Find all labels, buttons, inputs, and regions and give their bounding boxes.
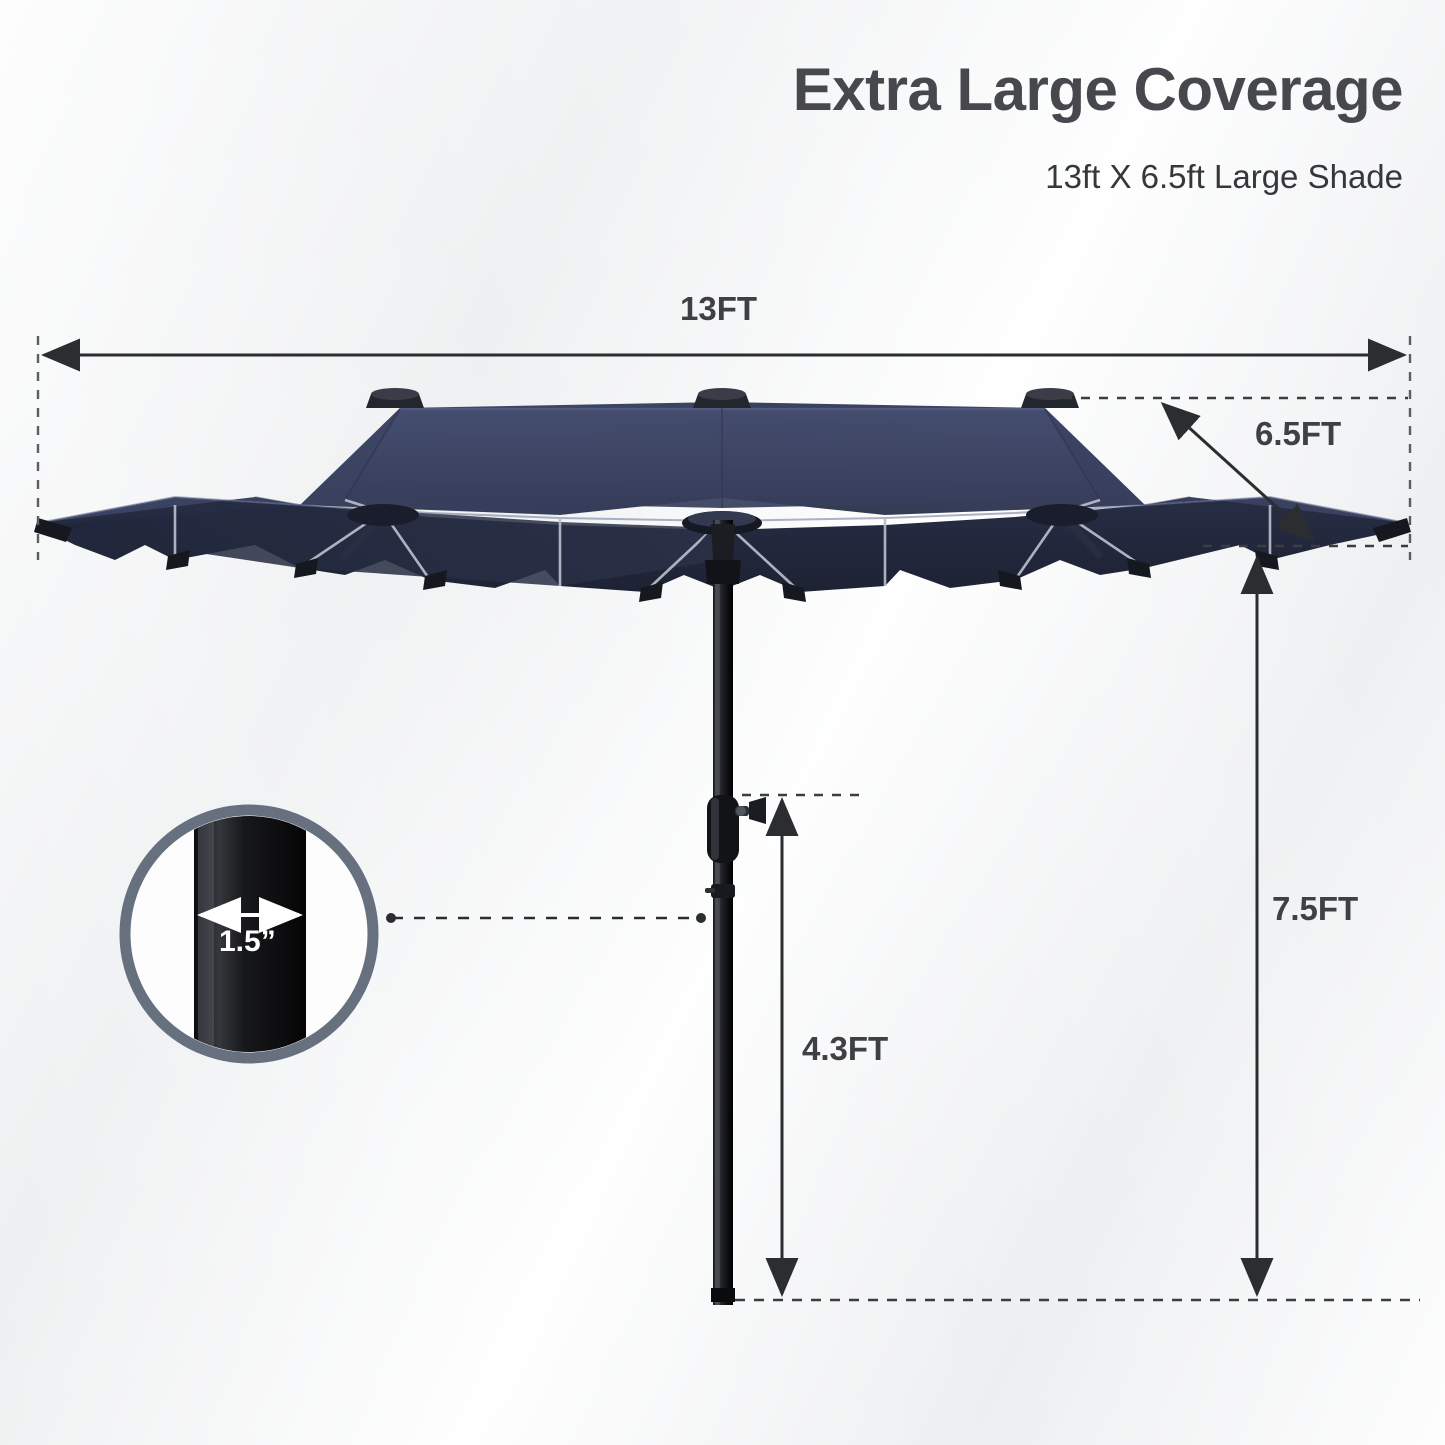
pole-collar [711, 524, 735, 560]
label-width: 13FT [680, 290, 757, 328]
pole-collar-lower [705, 560, 741, 584]
rib-hub-left [347, 504, 419, 526]
page-title: Extra Large Coverage [0, 55, 1403, 124]
crank-mechanism [707, 795, 766, 863]
infographic-canvas: Extra Large Coverage 13ft X 6.5ft Large … [0, 0, 1445, 1445]
label-height: 7.5FT [1272, 890, 1358, 928]
label-pole-diameter: 1.5” [219, 925, 276, 959]
pole-highlight [715, 520, 720, 1305]
callout-connector-dot-left [386, 913, 396, 923]
label-depth: 6.5FT [1255, 415, 1341, 453]
page-subtitle: 13ft X 6.5ft Large Shade [0, 158, 1403, 196]
rib-hub-right [1026, 504, 1098, 526]
pole-base [711, 1288, 735, 1302]
canopy-top-caps [366, 388, 1079, 408]
label-clearance: 4.3FT [802, 1030, 888, 1068]
pole-joint-tab [705, 888, 715, 893]
product-illustration [0, 0, 1445, 1445]
callout-connector-dot-right [696, 913, 706, 923]
callout-pole-highlight [198, 810, 214, 1060]
